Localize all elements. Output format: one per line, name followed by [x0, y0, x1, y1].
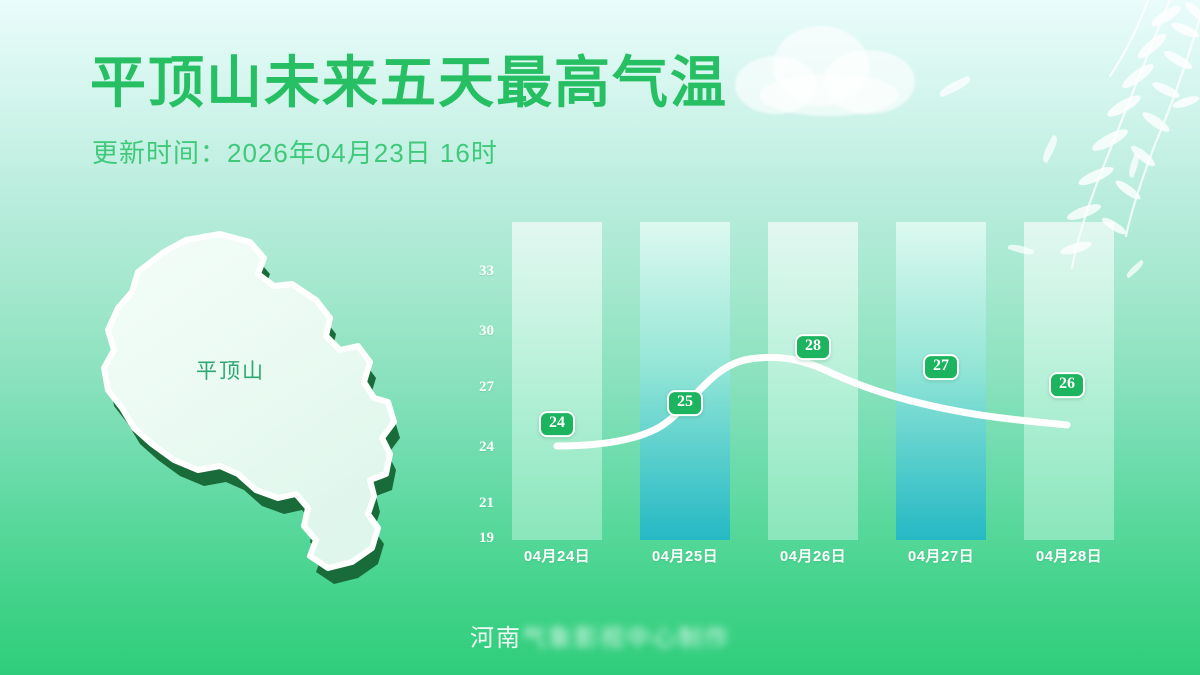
footer-credit: 河南气象影视中心制作: [0, 618, 1200, 653]
x-axis-label: 04月26日: [753, 545, 873, 566]
temperature-chart: 33 30 27 24 21 19 24 25 28 27 26 04月24日 …: [460, 215, 1140, 575]
x-axis-label: 04月27日: [881, 545, 1001, 566]
x-axis-label: 04月28日: [1009, 545, 1129, 566]
update-time-text: 更新时间：2026年04月23日 16时: [92, 140, 498, 166]
footer-credit-visible: 河南: [470, 625, 522, 652]
petal-icon: [938, 75, 973, 97]
value-badge: 28: [795, 334, 831, 360]
x-axis-label: 04月25日: [625, 545, 745, 566]
region-map[interactable]: [78, 222, 428, 602]
value-badge: 25: [667, 390, 703, 416]
value-badge: 24: [539, 411, 575, 437]
value-badge: 27: [923, 354, 959, 380]
pingdingshan-map-shape: [78, 222, 428, 602]
map-region-label: 平顶山: [196, 355, 265, 385]
footer-credit-blurred: 气象影视中心制作: [522, 625, 730, 652]
cloud-icon: [735, 22, 915, 117]
petal-icon: [1040, 135, 1060, 163]
petal-icon: [1127, 153, 1142, 178]
temperature-trend-line: [460, 215, 1140, 575]
x-axis-label: 04月24日: [497, 545, 617, 566]
value-badge: 26: [1049, 372, 1085, 398]
page-title: 平顶山未来五天最高气温: [90, 55, 728, 111]
infographic-canvas: 平顶山未来五天最高气温 更新时间：2026年04月23日 16时 平顶山: [0, 0, 1200, 675]
